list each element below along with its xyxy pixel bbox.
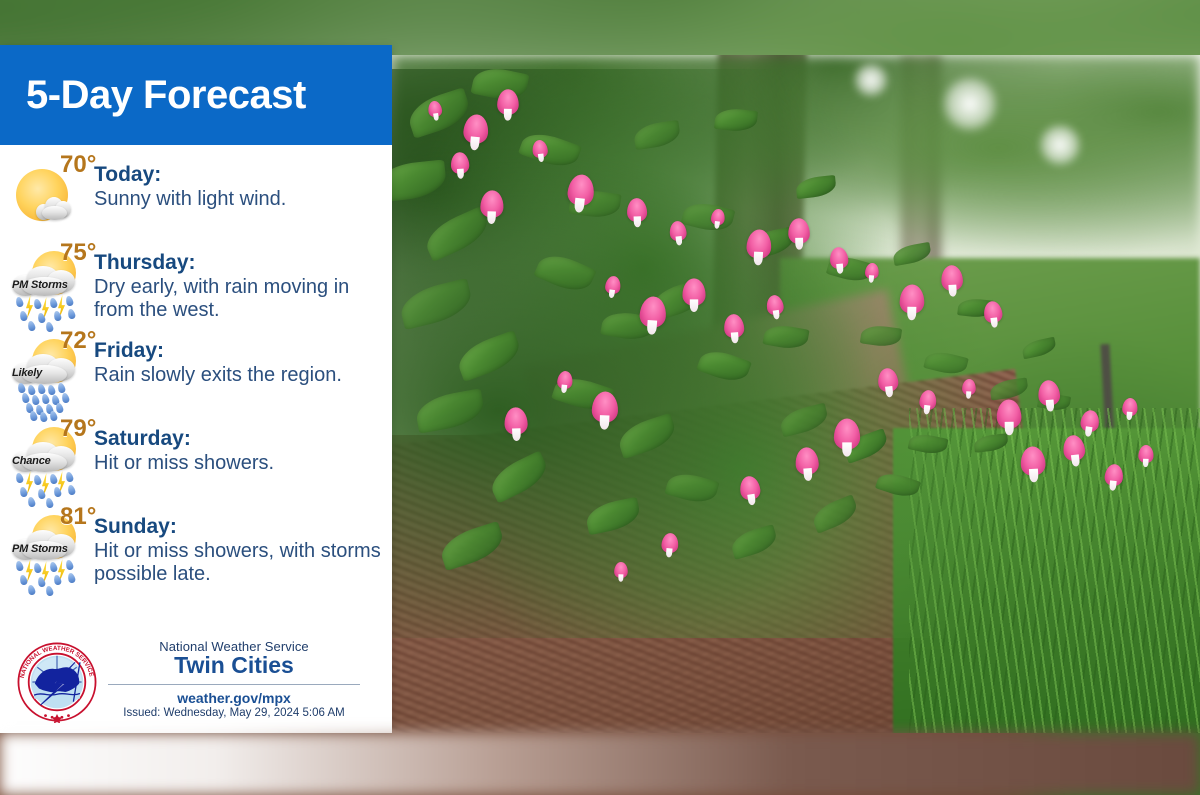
forecast-row: PM Storms81°Sunday:Hit or miss showers, … [0,503,392,591]
day-label: Saturday: [94,427,384,451]
icon-chance-label: PM Storms [12,543,68,555]
raindrop-icon [15,472,24,483]
forecast-description: Sunny with light wind. [94,188,384,212]
high-temperature: 75° [60,239,96,267]
national-weather-service-seal-icon: NATIONAL WEATHER SERVICE [16,641,98,723]
footer-divider [108,684,360,685]
bokeh-highlight [853,62,889,98]
forecast-description: Rain slowly exits the region. [94,364,384,388]
icon-chance-label: PM Storms [12,279,68,291]
high-temperature: 72° [60,327,96,355]
raindrop-icon [65,559,74,570]
raindrop-icon [33,474,42,485]
raindrop-icon [19,310,28,321]
raindrop-icon [61,392,70,403]
bleeding-heart-flower [682,278,705,305]
raindrop-icon [49,561,58,572]
page-title: 5-Day Forecast [26,73,306,118]
high-temperature: 81° [60,503,96,531]
forecast-description: Dry early, with rain moving in from the … [94,276,384,323]
raindrop-icon [67,484,76,495]
forecast-description: Hit or miss showers, with storms possibl… [94,540,384,587]
raindrop-icon [19,486,28,497]
card-header: 5-Day Forecast [0,45,392,145]
forecast-row: PM Storms75°Thursday:Dry early, with rai… [0,239,392,327]
raindrop-icon [45,585,54,596]
forecast-row: 70°Today:Sunny with light wind. [0,151,392,239]
raindrop-icon [15,296,24,307]
forecast-icon-cell: PM Storms75° [6,239,94,327]
raindrop-icon [49,473,58,484]
forecast-description: Hit or miss showers. [94,452,384,476]
raindrop-icon [65,471,74,482]
forecast-row: Chance79°Saturday:Hit or miss showers. [0,415,392,503]
day-label: Sunday: [94,515,384,539]
raindrop-icon [33,562,42,573]
raindrop-icon [19,574,28,585]
raindrop-icon [27,584,36,595]
raindrop-icon [33,298,42,309]
forecast-graphic: 5-Day Forecast 70°Today:Sunny with light… [0,0,1200,795]
forecast-icon-cell: PM Storms81° [6,503,94,591]
card-footer: NATIONAL WEATHER SERVICE National Weathe… [0,639,392,723]
forecast-text-cell: Sunday:Hit or miss showers, with storms … [94,503,384,587]
icon-chance-label: Chance [12,455,51,467]
forecast-text-cell: Friday:Rain slowly exits the region. [94,327,384,387]
forecast-row: Likely72°Friday:Rain slowly exits the re… [0,327,392,415]
raindrop-icon [55,402,64,413]
issued-timestamp: Issued: Wednesday, May 29, 2024 5:06 AM [98,707,370,721]
cloud-icon [36,195,72,221]
forecast-text-cell: Thursday:Dry early, with rain moving in … [94,239,384,323]
high-temperature: 79° [60,415,96,443]
forecast-text-cell: Today:Sunny with light wind. [94,151,384,211]
forecast-text-cell: Saturday:Hit or miss showers. [94,415,384,475]
raindrop-icon [67,308,76,319]
bottom-blur-strip [0,733,1200,795]
day-label: Friday: [94,339,384,363]
day-label: Today: [94,163,384,187]
forecast-card: 5-Day Forecast 70°Today:Sunny with light… [0,45,392,733]
forecast-list: 70°Today:Sunny with light wind.PM Storms… [0,145,392,591]
forecast-icon-cell: 70° [6,151,94,239]
high-temperature: 70° [60,151,96,179]
day-label: Thursday: [94,251,384,275]
cloud-puff [42,206,67,221]
office-name: Twin Cities [98,652,370,679]
footer-text-block: National Weather Service Twin Cities wea… [98,639,382,721]
garden-photo [392,55,1200,733]
forecast-icon-cell: Likely72° [6,327,94,415]
raindrop-icon [49,297,58,308]
raindrop-icon [15,560,24,571]
raindrop-icon [65,295,74,306]
website-url[interactable]: weather.gov/mpx [98,690,370,706]
bleeding-heart-flower [961,378,975,395]
bokeh-highlight [1038,123,1082,167]
forecast-icon-cell: Chance79° [6,415,94,503]
raindrop-icon [67,572,76,583]
icon-chance-label: Likely [12,367,42,379]
